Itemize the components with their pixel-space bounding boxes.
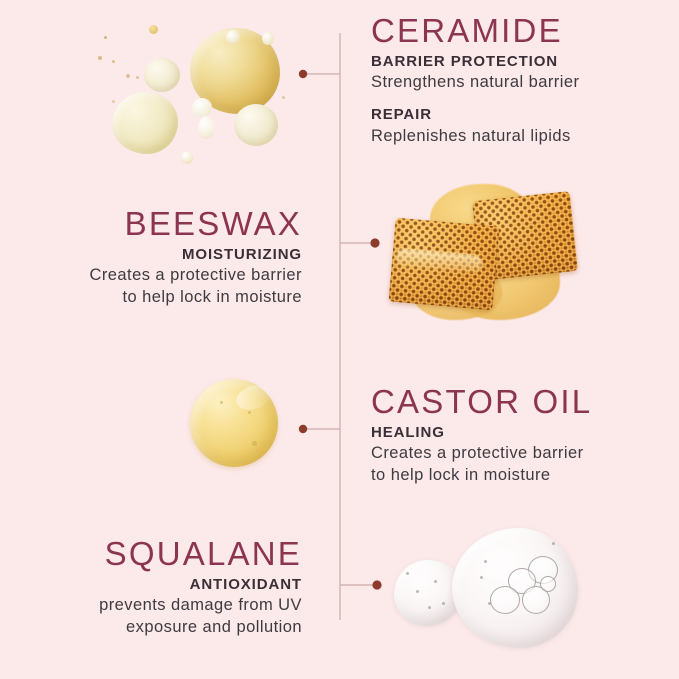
connector-dot-squalane <box>372 580 381 589</box>
ingredient-block-squalane: SQUALANE ANTIOXIDANT prevents damage fro… <box>0 537 302 639</box>
ingredient-block-castor-oil: CASTOR OIL HEALING Creates a protective … <box>371 385 671 487</box>
benefit-label-antioxidant: ANTIOXIDANT <box>0 576 302 595</box>
ingredient-infographic: CERAMIDE BARRIER PROTECTION Strengthens … <box>0 0 679 679</box>
castor-oil-drop-image <box>190 379 278 467</box>
benefit-healing: HEALING Creates a protective barrier to … <box>371 424 671 487</box>
ingredient-title-castor-oil: CASTOR OIL <box>371 385 671 420</box>
benefit-description-antioxidant-line1: prevents damage from UV <box>0 595 302 617</box>
connector-dot-beeswax <box>370 238 379 247</box>
benefit-description-moisturizing-line1: Creates a protective barrier <box>0 265 302 287</box>
benefit-description-moisturizing-line2: to help lock in moisture <box>0 287 302 309</box>
benefit-description-antioxidant-line2: exposure and pollution <box>0 617 302 639</box>
benefit-description-healing-line1: Creates a protective barrier <box>371 443 671 465</box>
benefit-description-barrier-protection: Strengthens natural barrier <box>371 72 671 94</box>
benefit-description-repair: Replenishes natural lipids <box>371 126 671 148</box>
ingredient-title-squalane: SQUALANE <box>0 537 302 572</box>
benefit-moisturizing: MOISTURIZING Creates a protective barrie… <box>0 246 302 309</box>
benefit-description-healing-line2: to help lock in moisture <box>371 465 671 487</box>
benefit-label-healing: HEALING <box>371 424 671 443</box>
benefit-label-repair: REPAIR <box>371 106 671 125</box>
ingredient-title-ceramide: CERAMIDE <box>371 14 671 49</box>
squalane-gel-image <box>392 524 588 656</box>
benefit-antioxidant: ANTIOXIDANT prevents damage from UV expo… <box>0 576 302 639</box>
ingredient-block-ceramide: CERAMIDE BARRIER PROTECTION Strengthens … <box>371 14 671 148</box>
serum-droplets-image <box>86 16 306 166</box>
benefit-barrier-protection: BARRIER PROTECTION Strengthens natural b… <box>371 53 671 95</box>
connector-dot-castor-oil <box>299 425 307 433</box>
ingredient-title-beeswax: BEESWAX <box>0 207 302 242</box>
ingredient-block-beeswax: BEESWAX MOISTURIZING Creates a protectiv… <box>0 207 302 309</box>
benefit-label-barrier-protection: BARRIER PROTECTION <box>371 53 671 72</box>
honeycomb-image <box>382 176 572 324</box>
benefit-label-moisturizing: MOISTURIZING <box>0 246 302 265</box>
benefit-repair: REPAIR Replenishes natural lipids <box>371 106 671 148</box>
